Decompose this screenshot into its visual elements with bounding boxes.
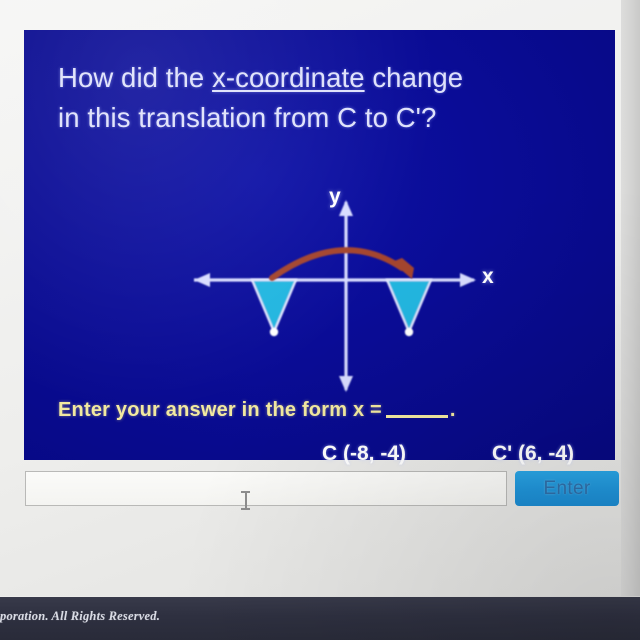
answer-input[interactable] bbox=[25, 471, 507, 506]
question-part-post: change bbox=[365, 62, 464, 93]
question-line-2: in this translation from C to C'? bbox=[58, 102, 436, 133]
copyright-text: poration. All Rights Reserved. bbox=[0, 609, 280, 624]
instruction-label: Enter your answer in the form x = bbox=[58, 399, 382, 421]
translation-arrow bbox=[272, 250, 414, 279]
question-panel: How did the x-coordinate change in this … bbox=[24, 30, 615, 460]
y-axis-label: y bbox=[329, 185, 341, 209]
answer-blank-underline bbox=[386, 415, 448, 418]
coordinate-graph: y x C (-8, -4) C' (6, -4) bbox=[174, 180, 524, 410]
question-text: How did the x-coordinate change in this … bbox=[58, 58, 598, 138]
x-axis bbox=[194, 273, 476, 287]
point-c-label: C (-8, -4) bbox=[322, 442, 406, 466]
shape-c-prime bbox=[387, 280, 431, 336]
instruction-period: . bbox=[450, 399, 456, 421]
enter-button[interactable]: Enter bbox=[515, 471, 619, 506]
question-part-pre: How did the bbox=[58, 62, 212, 93]
screenshot-root: How did the x-coordinate change in this … bbox=[0, 0, 640, 640]
graph-svg bbox=[174, 180, 524, 410]
y-axis bbox=[339, 200, 353, 392]
point-c-prime-label: C' (6, -4) bbox=[492, 442, 574, 466]
question-underlined-term: x-coordinate bbox=[212, 62, 365, 93]
page-right-gutter bbox=[621, 0, 640, 596]
x-axis-label: x bbox=[482, 265, 494, 289]
shape-c bbox=[252, 280, 296, 336]
instruction-text: Enter your answer in the form x =. bbox=[58, 399, 456, 422]
